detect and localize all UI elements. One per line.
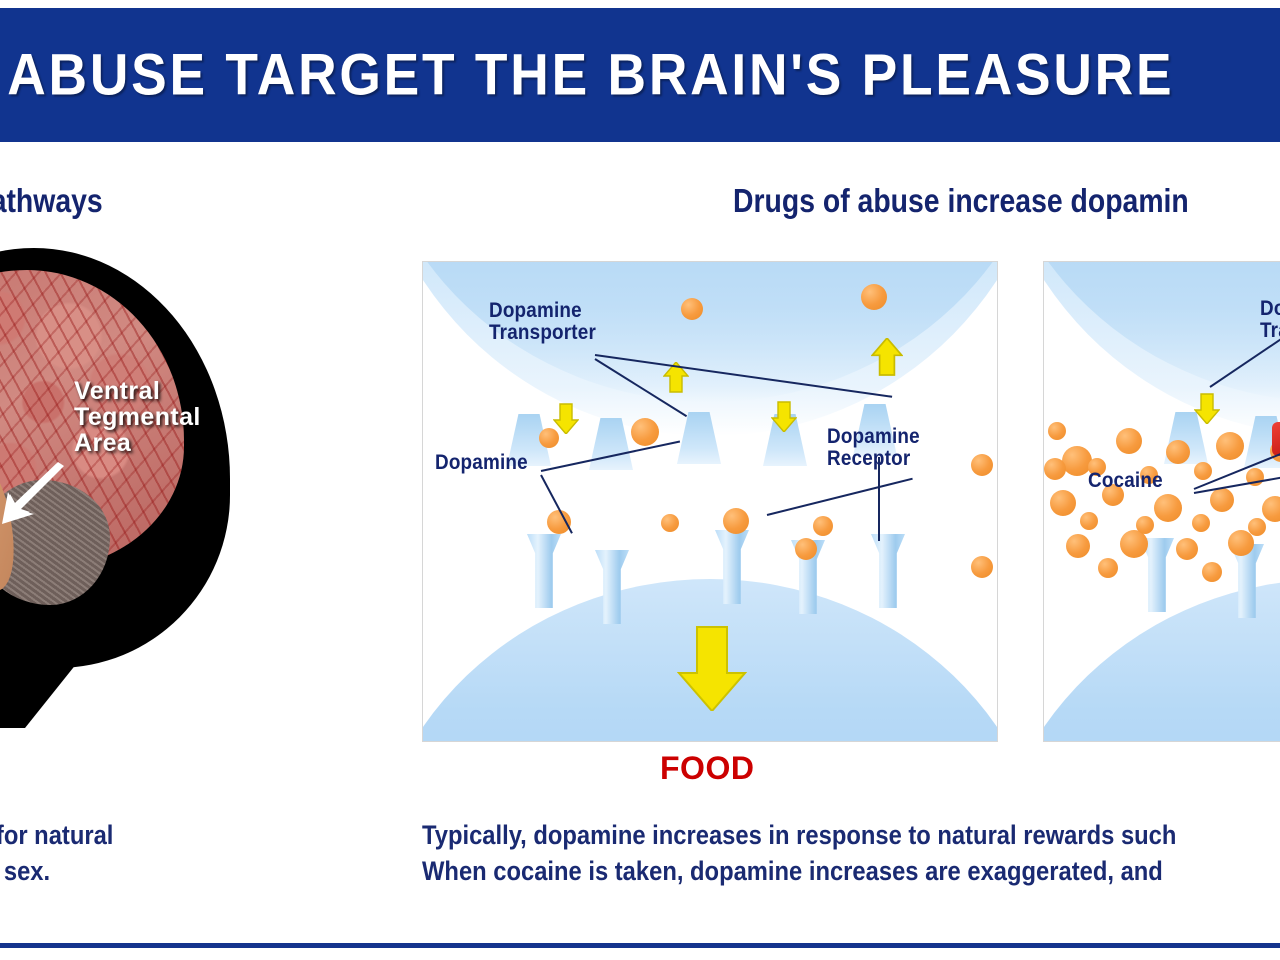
dopamine-molecule	[1192, 514, 1210, 532]
label-cocaine: Cocaine	[1088, 470, 1171, 492]
dopamine-transporter-icon	[771, 398, 797, 432]
vta-label-line1: Ventral	[74, 378, 201, 404]
dopamine-molecule	[1216, 432, 1244, 460]
dopamine-molecule	[795, 538, 817, 560]
dopamine-molecule	[1066, 534, 1090, 558]
label-dopamine-transporter-line2: Transporter	[489, 322, 596, 344]
label-dopamine-transporter2-line1: Do	[1260, 298, 1280, 320]
ventral-tegmental-area-label: Ventral Tegmental Area	[74, 378, 201, 456]
dopamine-molecule	[861, 284, 887, 310]
synapse-panel-cocaine: Cocaine Do Tra	[1043, 261, 1280, 742]
dopamine-transporter-icon	[1194, 390, 1220, 424]
footer-rule	[0, 943, 1280, 948]
dopamine-transporter-icon	[553, 400, 579, 434]
banner-title-text: OF ABUSE TARGET THE BRAIN'S PLEASURE	[0, 42, 1280, 109]
label-dopamine-transporter: Dopamine Transporter	[489, 300, 608, 344]
dopamine-receptor	[871, 534, 905, 608]
label-dopamine-transporter2-line2: Tra	[1260, 320, 1280, 342]
caption-left-line2: ic, and sex.	[0, 853, 50, 889]
dopamine-molecule	[1136, 516, 1154, 534]
leader-line	[767, 478, 913, 516]
label-dopamine-transporter-line1: Dopamine	[489, 300, 582, 322]
vta-label-line3: Area	[74, 430, 201, 456]
dopamine-molecule	[1202, 562, 1222, 582]
dopamine-molecule	[1228, 530, 1254, 556]
dopamine-transporter-icon	[871, 338, 903, 380]
dopamine-molecule	[539, 428, 559, 448]
label-dopamine-receptor-line2: Receptor	[827, 448, 910, 470]
dopamine-molecule	[681, 298, 703, 320]
dopamine-molecule	[971, 556, 993, 578]
white-arrow-icon	[0, 462, 68, 528]
label-dopamine: Dopamine	[435, 452, 538, 474]
title-banner: OF ABUSE TARGET THE BRAIN'S PLEASURE	[0, 8, 1280, 142]
dopamine-molecule	[971, 454, 993, 476]
vta-label-line2: Tegmental	[74, 404, 201, 430]
heading-reward-pathways: amine) pathways	[0, 182, 140, 220]
caption-left-line1: ortant for natural	[0, 817, 113, 853]
caption-left-column: ortant for natural ic, and sex.	[0, 817, 140, 889]
dopamine-receptor	[527, 534, 561, 608]
dopamine-signal-arrow-icon	[677, 625, 747, 711]
panel-caption-food: FOOD	[660, 750, 754, 787]
dopamine-molecule	[1044, 458, 1066, 480]
heading-right-label: Drugs of abuse increase dopamin	[733, 182, 1189, 220]
dopamine-molecule	[1210, 488, 1234, 512]
label-dopamine-receptor: Dopamine Receptor	[827, 426, 930, 470]
dopamine-molecule	[661, 514, 679, 532]
dopamine-molecule	[1050, 490, 1076, 516]
label-dopamine-transporter-2: Do Tra	[1260, 298, 1280, 342]
dopamine-molecule	[631, 418, 659, 446]
dopamine-molecule	[1098, 558, 1118, 578]
dopamine-molecule	[1120, 530, 1148, 558]
dopamine-molecule	[1262, 496, 1280, 522]
dopamine-molecule	[1176, 538, 1198, 560]
dopamine-molecule	[1116, 428, 1142, 454]
heading-left-label: amine) pathways	[0, 182, 103, 220]
dopamine-molecule	[1248, 518, 1266, 536]
label-dopamine-receptor-line1: Dopamine	[827, 426, 920, 448]
caption-right-line2: When cocaine is taken, dopamine increase…	[422, 853, 1163, 889]
caption-right-column: Typically, dopamine increases in respons…	[422, 817, 1279, 889]
heading-drugs-increase-dopamine: Drugs of abuse increase dopamin	[733, 182, 1263, 220]
dopamine-molecule	[1166, 440, 1190, 464]
synapse-panel-food: Dopamine Transporter Dopamine Dopamine R…	[422, 261, 998, 742]
dopamine-molecule	[1154, 494, 1182, 522]
caption-right-line1: Typically, dopamine increases in respons…	[422, 817, 1176, 853]
banner-title-label: OF ABUSE TARGET THE BRAIN'S PLEASURE	[0, 42, 1174, 109]
dopamine-molecule	[1080, 512, 1098, 530]
dopamine-molecule	[723, 508, 749, 534]
cocaine-molecule	[1272, 422, 1280, 456]
brain-illustration: Ventral Tegmental Area	[0, 248, 230, 668]
dopamine-molecule	[1194, 462, 1212, 480]
dopamine-molecule	[813, 516, 833, 536]
dopamine-molecule	[1048, 422, 1066, 440]
